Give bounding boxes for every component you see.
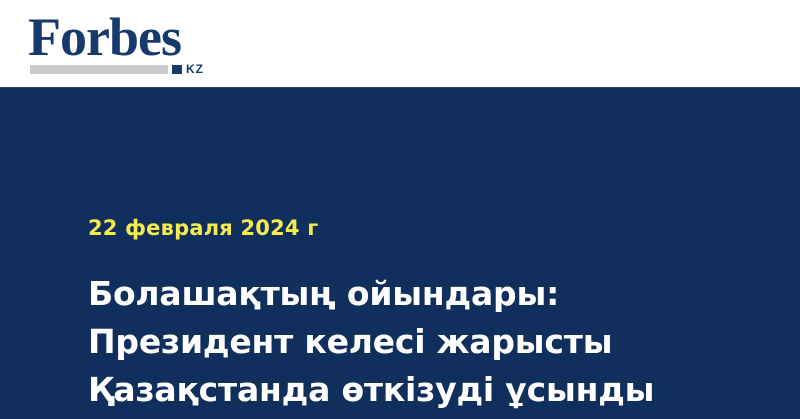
- headline-line-1: Болашақтың ойындары:: [88, 270, 748, 318]
- headline-line-2: Президент келесі жарысты: [88, 318, 748, 366]
- forbes-kz-logo[interactable]: Forbes KZ: [28, 10, 228, 80]
- site-header: Forbes KZ: [0, 0, 800, 88]
- page-title: Болашақтың ойындары: Президент келесі жа…: [88, 270, 748, 414]
- article-share-card: Forbes KZ 22 февраля 2024 г Болашақтың о…: [0, 0, 800, 419]
- headline-line-3: Қазақстанда өткізуді ұсынды: [88, 366, 748, 414]
- brand-square-icon: [172, 65, 182, 74]
- forbes-wordmark: Forbes: [28, 10, 181, 64]
- article-panel: 22 февраля 2024 г Болашақтың ойындары: П…: [0, 88, 800, 419]
- brand-rule: [30, 65, 168, 74]
- logo-locale-label: KZ: [186, 63, 204, 75]
- publication-date: 22 февраля 2024 г: [88, 216, 318, 240]
